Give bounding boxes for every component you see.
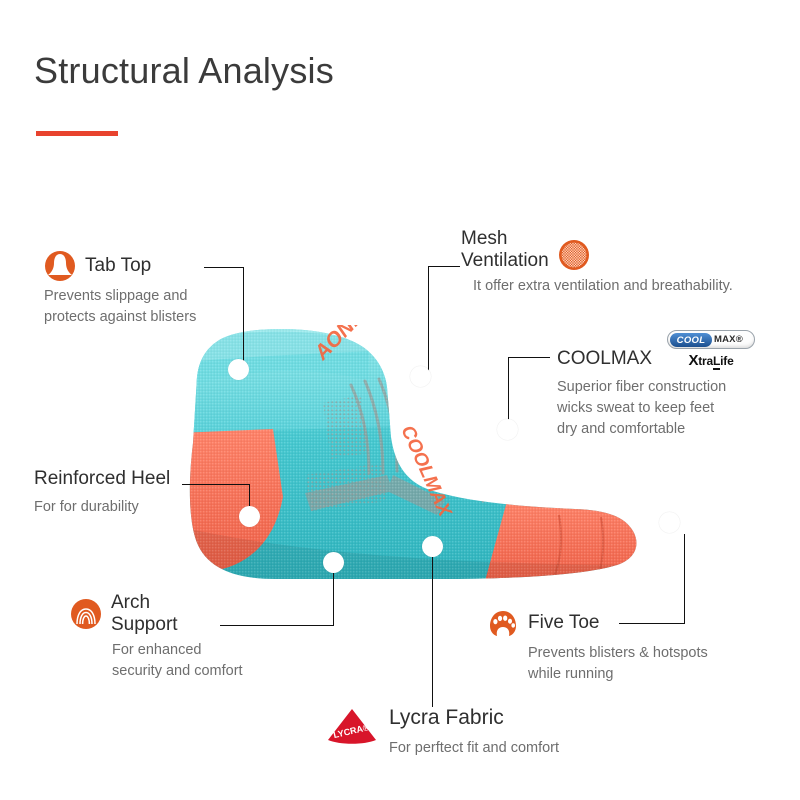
callout-tab-top-header: Tab Top [44,250,196,282]
xtralife-tra: tra [698,354,713,368]
leader-lycra-v [432,545,433,707]
leader-coolmax-v [508,357,509,422]
callout-five-toe-desc: Prevents blisters & hotspots while runni… [528,643,708,685]
callout-reinforced-heel: Reinforced Heel For for durability [34,468,170,518]
lycra-logo-icon: LYCRA® [326,707,378,747]
xtralife-x: X [688,352,698,369]
callout-arch-support-title: Arch Support [111,592,178,636]
coolmax-pill: COOL MAX® [667,330,755,349]
leader-tab-top-v [243,267,244,369]
callout-lycra-fabric-header: Lycra Fabric [389,706,559,731]
marker-coolmax [497,419,518,440]
callout-reinforced-heel-title: Reinforced Heel [34,468,170,490]
callout-lycra-fabric-title: Lycra Fabric [389,706,504,731]
callout-five-toe-title: Five Toe [528,612,599,634]
infographic-canvas: Structural Analysis [0,0,800,800]
marker-reinforced-heel [239,506,260,527]
tab-top-icon [44,250,76,282]
page-title: Structural Analysis [34,50,334,92]
callout-coolmax-title: COOLMAX [557,348,652,370]
callout-arch-support-header: Arch Support [70,592,243,636]
marker-lycra-fabric [422,536,443,557]
callout-lycra-fabric: Lycra Fabric For perftect fit and comfor… [389,706,559,759]
marker-tab-top [228,359,249,380]
callout-reinforced-heel-desc: For for durability [34,497,170,518]
callout-mesh-ventilation: Mesh Ventilation It offer extra ventilat… [461,228,733,297]
leader-mesh-h [428,266,460,267]
coolmax-xtralife-text: XtraLife [667,352,755,369]
leader-mesh-v [428,266,429,376]
callout-tab-top-title: Tab Top [85,255,151,277]
leader-coolmax-h [508,357,550,358]
arch-support-icon [70,598,102,630]
callout-coolmax-desc: Superior fiber construction wicks sweat … [557,377,726,440]
callout-tab-top-desc: Prevents slippage and protects against b… [44,286,196,328]
callout-mesh-ventilation-header: Mesh Ventilation [461,228,733,272]
marker-five-toe [659,512,680,533]
callout-arch-support: Arch Support For enhanced security and c… [70,592,243,682]
callout-mesh-ventilation-title: Mesh Ventilation [461,228,549,272]
leader-arch-h [220,625,334,626]
five-toe-paw-icon [487,607,519,639]
callout-mesh-ventilation-desc: It offer extra ventilation and breathabi… [473,276,733,297]
marker-arch-support [323,552,344,573]
leader-five-toe-h [619,623,685,624]
coolmax-logo-icon: COOL MAX® XtraLife [667,330,755,370]
leader-heel-h [182,484,250,485]
marker-mesh-ventilation [410,366,431,387]
callout-lycra-fabric-desc: For perftect fit and comfort [389,738,559,759]
title-accent-rule [36,131,118,136]
callout-tab-top: Tab Top Prevents slippage and protects a… [44,250,196,328]
coolmax-max-text: MAX® [714,334,743,345]
coolmax-cool-text: COOL [670,333,712,347]
leader-tab-top-h [204,267,244,268]
callout-arch-support-desc: For enhanced security and comfort [112,640,243,682]
mesh-ventilation-icon [558,239,590,271]
callout-five-toe: Five Toe Prevents blisters & hotspots wh… [487,607,708,685]
leader-arch-v [333,572,334,626]
callout-reinforced-heel-header: Reinforced Heel [34,468,170,490]
xtralife-ife: ife [720,354,733,368]
leader-five-toe-v [684,534,685,624]
